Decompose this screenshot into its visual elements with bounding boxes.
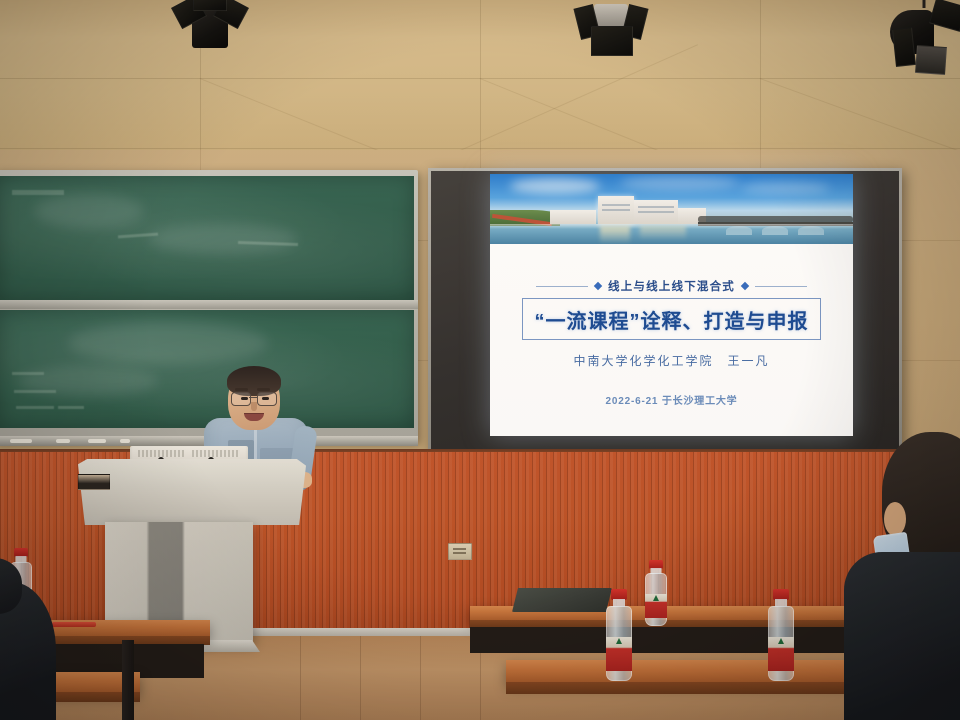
- slide-presenter: 中南大学化学化工学院 王一凡: [490, 352, 853, 369]
- stage-light-2: [575, 0, 647, 58]
- water-bottle-left[interactable]: [606, 589, 632, 681]
- lectern-top: [78, 459, 306, 525]
- slide-title: “一流课程”诠释、打造与申报: [535, 305, 809, 334]
- water-bottle-right[interactable]: [768, 589, 794, 681]
- slide-subtitle: 线上与线上线下混合式: [608, 278, 735, 294]
- wall-outlet-left[interactable]: [448, 543, 472, 560]
- audience-torso: [844, 552, 960, 720]
- diamond-bullet-right: [741, 282, 749, 290]
- audience-ear: [884, 502, 906, 536]
- desk-front-right-edge: [506, 682, 858, 694]
- desk-leg-left: [122, 640, 134, 720]
- projection-screen[interactable]: 线上与线上线下混合式 “一流课程”诠释、打造与申报 中南大学化学化工学院 王一凡…: [428, 168, 902, 452]
- audience-member-masked: [860, 432, 960, 720]
- presentation-slide: 线上与线上线下混合式 “一流课程”诠释、打造与申报 中南大学化学化工学院 王一凡…: [490, 174, 853, 436]
- diamond-bullet-left: [594, 282, 602, 290]
- lectern-label: [78, 474, 110, 490]
- slide-subtitle-row: 线上与线上线下混合式: [490, 278, 853, 294]
- blackboard-panel-top: [0, 176, 414, 300]
- slide-title-box: “一流课程”诠释、打造与申报: [522, 298, 821, 340]
- rule-left: [536, 286, 588, 287]
- water-bottle-middle[interactable]: [645, 560, 667, 626]
- lecture-hall-screenshot: 线上与线上线下混合式 “一流课程”诠释、打造与申报 中南大学化学化工学院 王一凡…: [0, 0, 960, 720]
- blackboard-divider: [0, 300, 418, 309]
- stage-light-3: [872, 0, 956, 74]
- audience-member-left: [0, 562, 80, 720]
- desk-front-right: [506, 660, 858, 684]
- stage-light-1: [175, 0, 245, 52]
- laptop-closed[interactable]: [512, 588, 612, 612]
- slide-banner-photo: [490, 174, 853, 244]
- rule-right: [755, 286, 807, 287]
- ceiling: [0, 0, 960, 170]
- slide-date: 2022-6-21 于长沙理工大学: [490, 392, 853, 407]
- slide-body: 线上与线上线下混合式 “一流课程”诠释、打造与申报 中南大学化学化工学院 王一凡…: [490, 244, 853, 436]
